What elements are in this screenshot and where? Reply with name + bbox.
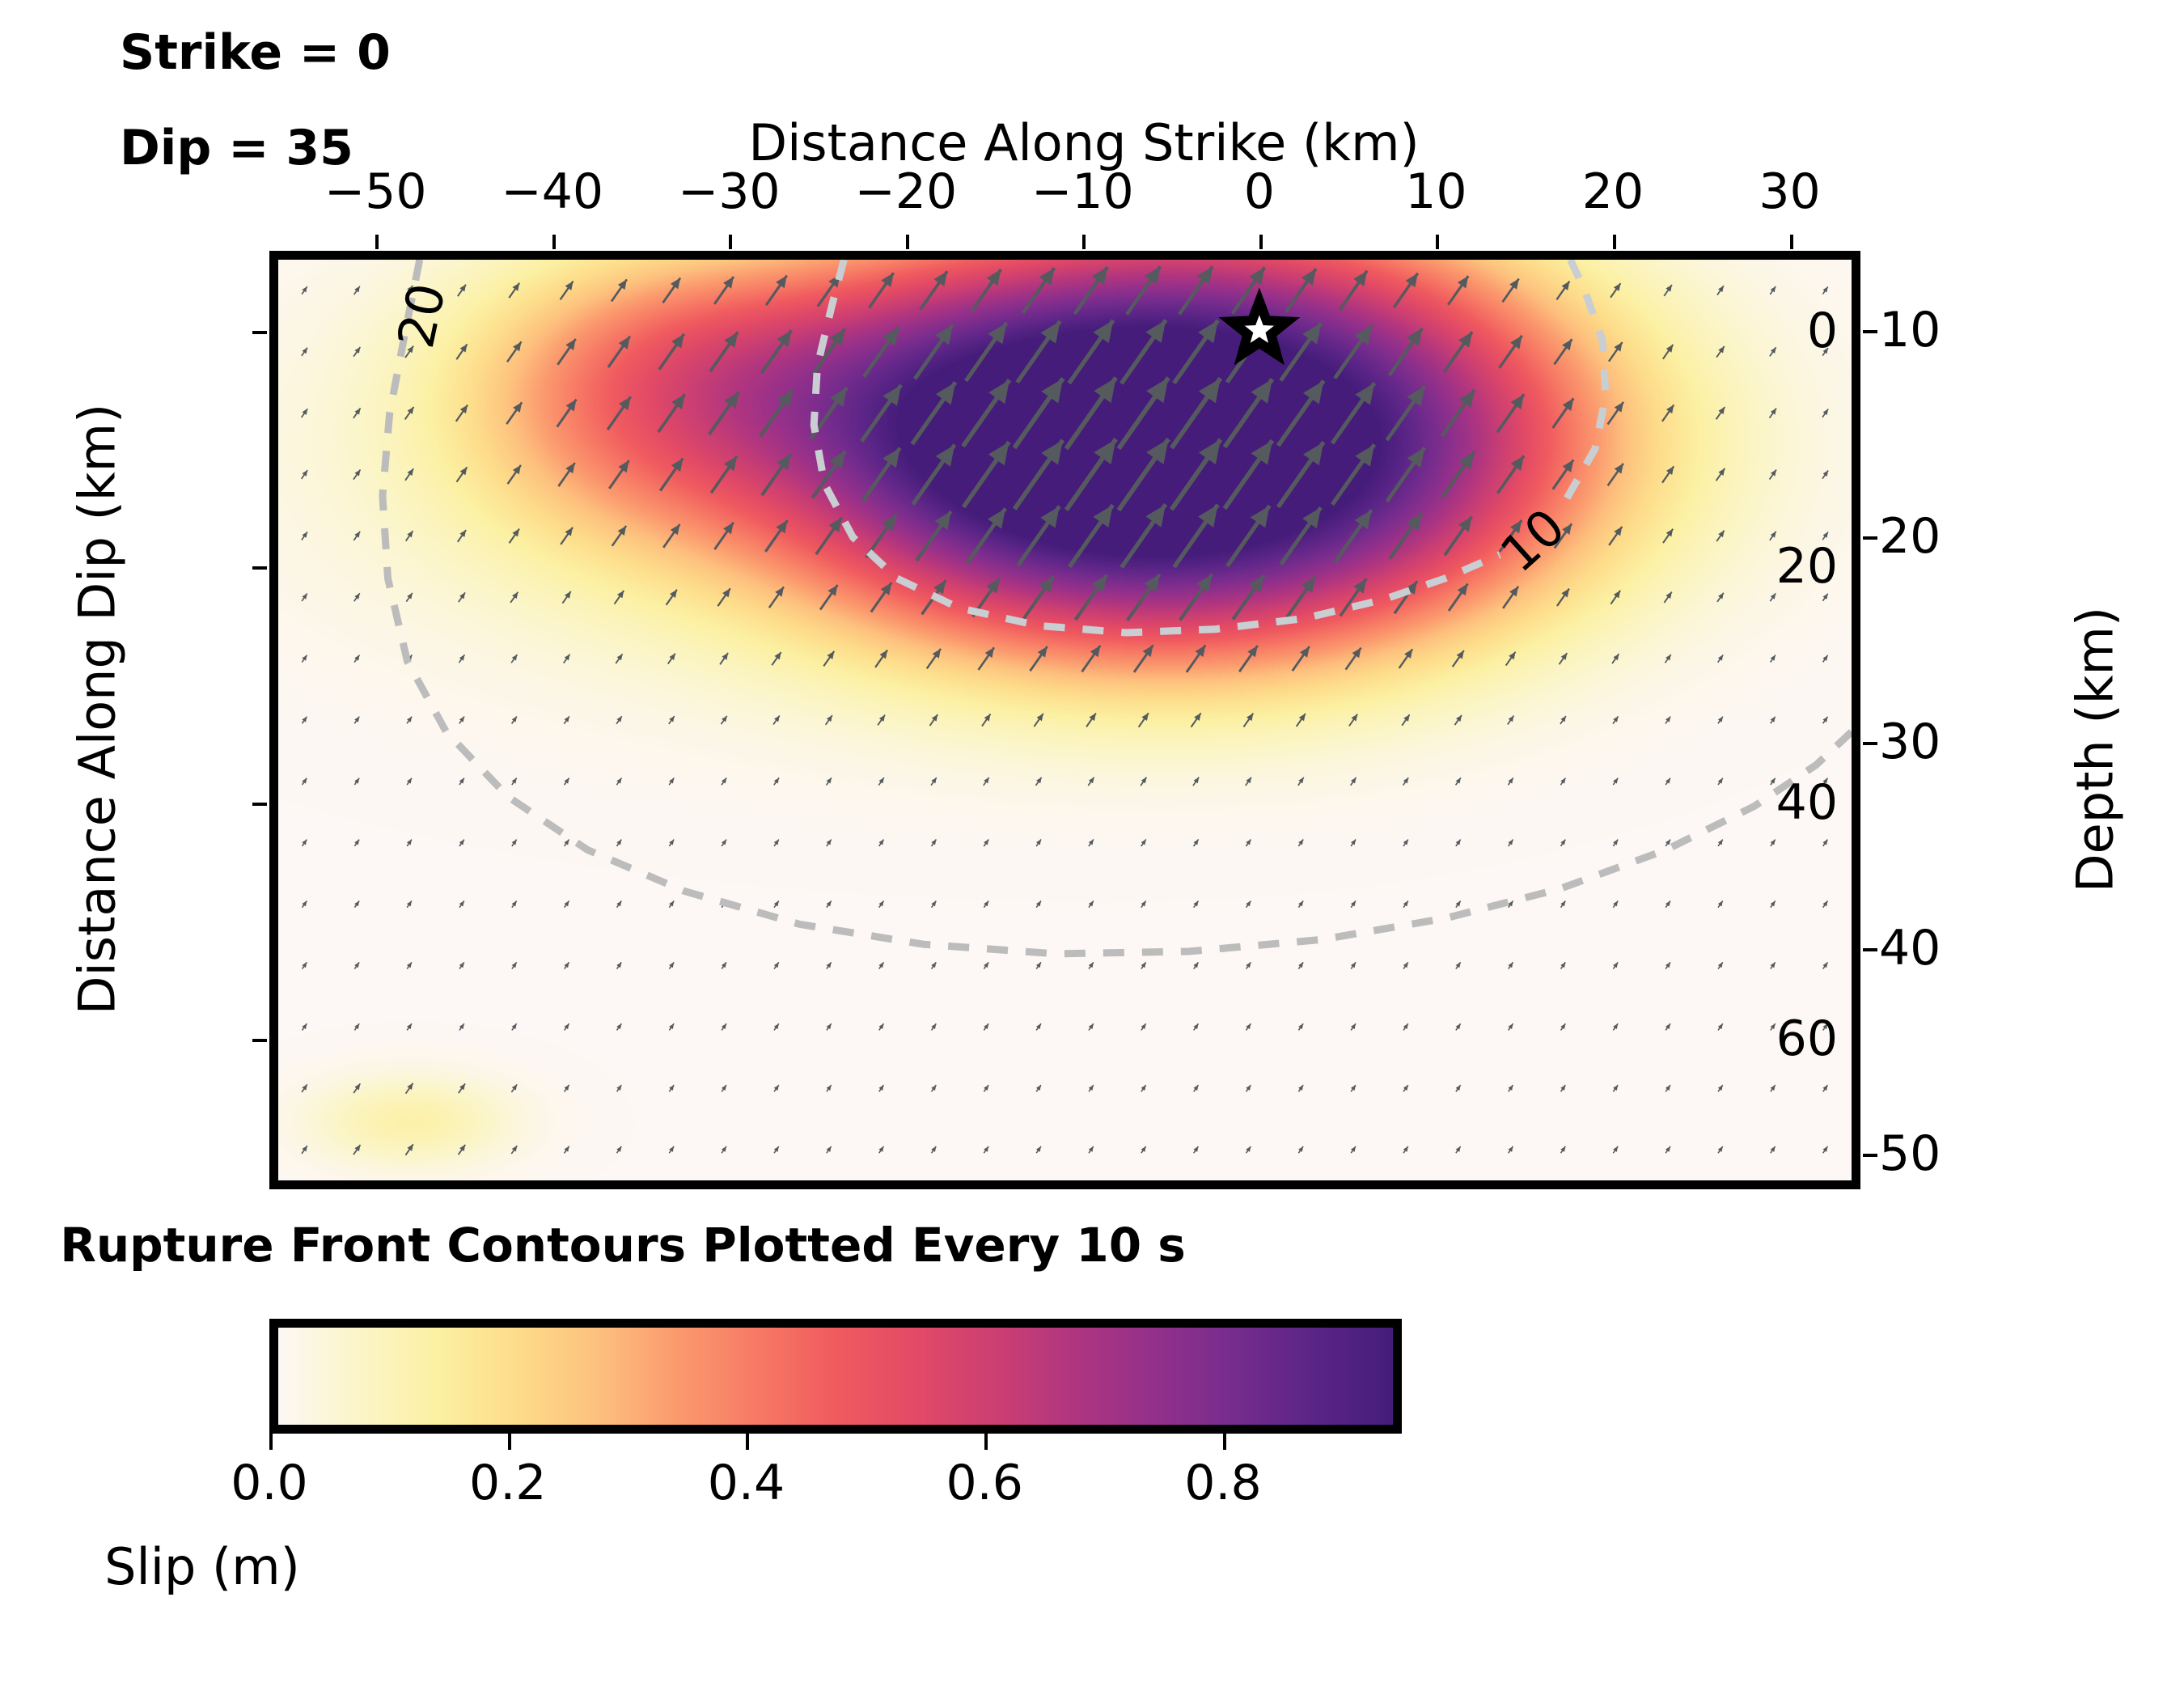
tick-label-top--40: −40 [501, 163, 603, 220]
colorbar-tick-label-0.8: 0.8 [1184, 1455, 1261, 1511]
colorbar-tick-0.2 [508, 1434, 511, 1450]
tick-top--20 [906, 235, 909, 249]
tick-left-20 [252, 566, 267, 570]
right-axis-title: Depth (km) [2066, 305, 2125, 1195]
tick-label-right-30: 30 [1879, 714, 1941, 770]
tick-top-0 [1259, 235, 1263, 249]
strike-annotation: Strike = 0 [120, 24, 391, 81]
tick-label-right-40: 40 [1879, 920, 1941, 977]
tick-label-left-60: 60 [1776, 1011, 1838, 1067]
plot-axes: −50−40−30−20−10010203002040601020304050 [269, 251, 1860, 1189]
tick-right-20 [1863, 536, 1877, 540]
tick-label-left-40: 40 [1776, 774, 1838, 831]
tick-label-top--20: −20 [855, 163, 958, 220]
tick-top--50 [375, 235, 379, 249]
tick-label-right-20: 20 [1879, 508, 1941, 565]
tick-label-left-0: 0 [1807, 303, 1838, 359]
tick-label-top-20: 20 [1582, 163, 1644, 220]
tick-right-30 [1863, 742, 1877, 745]
contour-note: Rupture Front Contours Plotted Every 10 … [0, 1218, 1715, 1273]
colorbar-tick-0.8 [1223, 1434, 1226, 1450]
tick-label-right-10: 10 [1879, 302, 1941, 358]
colorbar-tick-label-0.4: 0.4 [708, 1455, 785, 1511]
tick-top-20 [1613, 235, 1616, 249]
colorbar-tick-label-0.2: 0.2 [469, 1455, 546, 1511]
colorbar-tick-0.6 [984, 1434, 988, 1450]
tick-label-top--50: −50 [324, 163, 427, 220]
colorbar-tick-label-0.6: 0.6 [946, 1455, 1022, 1511]
tick-label-left-20: 20 [1776, 538, 1838, 595]
tick-label-top-0: 0 [1244, 163, 1275, 220]
colorbar-title: Slip (m) [0, 1537, 1294, 1596]
tick-label-top--10: −10 [1031, 163, 1134, 220]
tick-top--40 [552, 235, 556, 249]
tick-label-top-10: 10 [1405, 163, 1467, 220]
figure-canvas: Strike = 0 Dip = 35 Distance Along Strik… [0, 0, 2184, 1699]
tick-right-50 [1863, 1154, 1877, 1157]
colorbar-tick-0.0 [269, 1434, 273, 1450]
tick-left-0 [252, 331, 267, 334]
tick-left-40 [252, 803, 267, 806]
tick-right-40 [1863, 948, 1877, 951]
tick-top--10 [1082, 235, 1086, 249]
tick-top--30 [729, 235, 732, 249]
tick-label-top--30: −30 [678, 163, 781, 220]
tick-right-10 [1863, 330, 1877, 333]
tick-top-10 [1436, 235, 1439, 249]
tick-top-30 [1790, 235, 1793, 249]
tick-left-60 [252, 1039, 267, 1042]
colorbar-tick-label-0.0: 0.0 [231, 1455, 307, 1511]
colorbar-axis: 0.00.20.40.60.8 [269, 1319, 1402, 1529]
left-axis-title: Distance Along Dip (km) [68, 265, 127, 1155]
colorbar-tick-0.4 [746, 1434, 749, 1450]
tick-label-right-50: 50 [1879, 1125, 1941, 1182]
tick-label-top-30: 30 [1759, 163, 1820, 220]
